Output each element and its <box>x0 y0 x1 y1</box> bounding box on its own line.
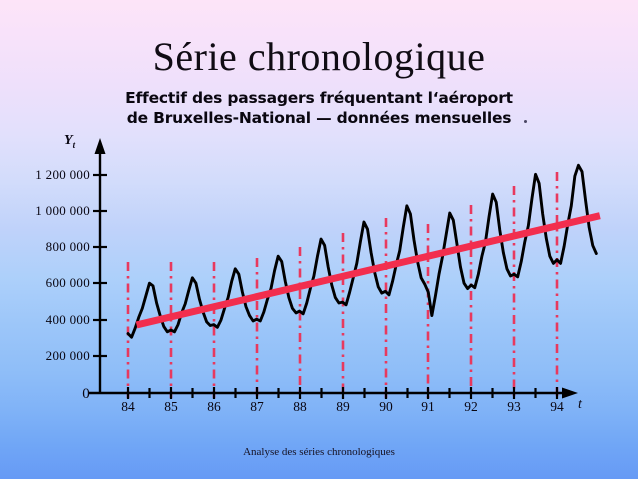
x-axis <box>88 387 578 399</box>
slide-footer-caption: Analyse des séries chronologiques <box>0 446 638 458</box>
y-tick-label-400000: 400 000 <box>0 312 90 328</box>
x-tick-label-86: 86 <box>196 399 232 415</box>
x-axis-title: t <box>578 397 582 413</box>
x-axis-ticks <box>128 387 557 399</box>
time-series-chart: Yt t 1 200 000 1 000 000 800 000 600 000… <box>0 0 638 479</box>
x-tick-label-84: 84 <box>110 399 146 415</box>
x-tick-label-94: 94 <box>539 399 575 415</box>
x-tick-label-87: 87 <box>239 399 275 415</box>
x-tick-label-89: 89 <box>325 399 361 415</box>
x-tick-label-93: 93 <box>496 399 532 415</box>
x-tick-label-88: 88 <box>282 399 318 415</box>
slide-canvas: Série chronologique Effectif des passage… <box>0 0 638 479</box>
y-tick-label-800000: 800 000 <box>0 239 90 255</box>
y-tick-label-600000: 600 000 <box>0 275 90 291</box>
y-tick-label-1000000: 1 000 000 <box>0 203 90 219</box>
x-tick-label-91: 91 <box>410 399 446 415</box>
x-tick-label-85: 85 <box>153 399 189 415</box>
year-marker-lines <box>128 172 557 398</box>
y-tick-label-1200000: 1 200 000 <box>0 167 90 183</box>
y-axis <box>93 138 107 394</box>
y-tick-label-0: 0 <box>0 386 90 403</box>
y-axis-title: Yt <box>64 133 75 150</box>
x-tick-label-90: 90 <box>368 399 404 415</box>
x-tick-label-92: 92 <box>453 399 489 415</box>
y-tick-label-200000: 200 000 <box>0 348 90 364</box>
